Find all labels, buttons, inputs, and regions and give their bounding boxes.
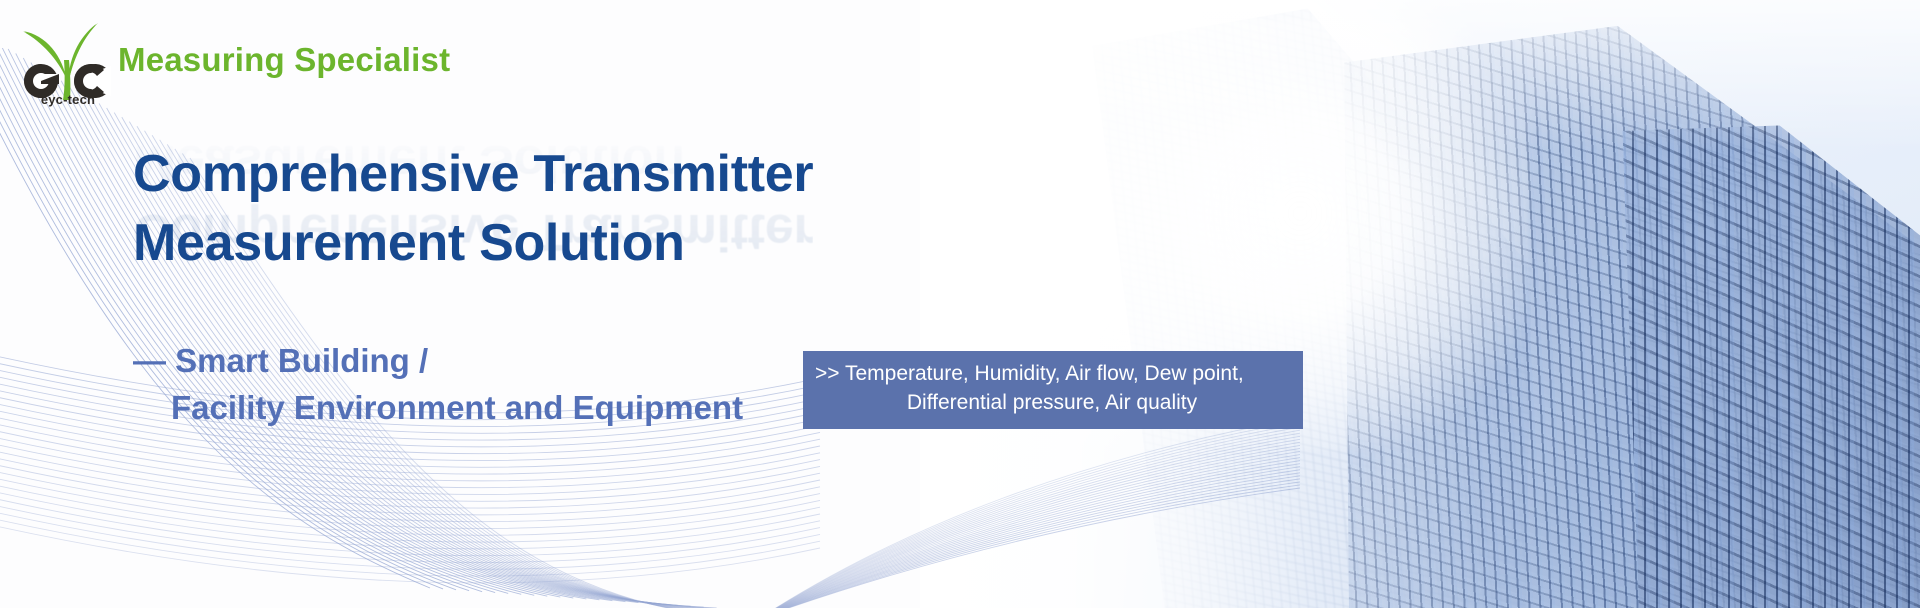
photo-top-fade [920,0,1920,150]
callout-line2: Differential pressure, Air quality [815,389,1289,418]
brand-tagline: Measuring Specialist [118,41,450,79]
logo-caption: eyc-tech [18,92,118,107]
page-title: Comprehensive Transmitter Measurement So… [133,140,813,278]
page-subtitle: — Smart Building / Facility Environment … [133,338,743,432]
callout-line1: >> Temperature, Humidity, Air flow, Dew … [815,360,1289,389]
measurement-types-callout: >> Temperature, Humidity, Air flow, Dew … [803,351,1303,429]
headline-line2: Measurement Solution [133,209,813,278]
subheadline-line2: Facility Environment and Equipment [133,385,743,432]
headline-line1: Comprehensive Transmitter [133,145,813,203]
subheadline-line1: — Smart Building / [133,342,428,379]
skyscraper-background-image [920,0,1920,608]
marketing-banner: eyc-tech Measuring Specialist Comprehens… [0,0,1920,608]
